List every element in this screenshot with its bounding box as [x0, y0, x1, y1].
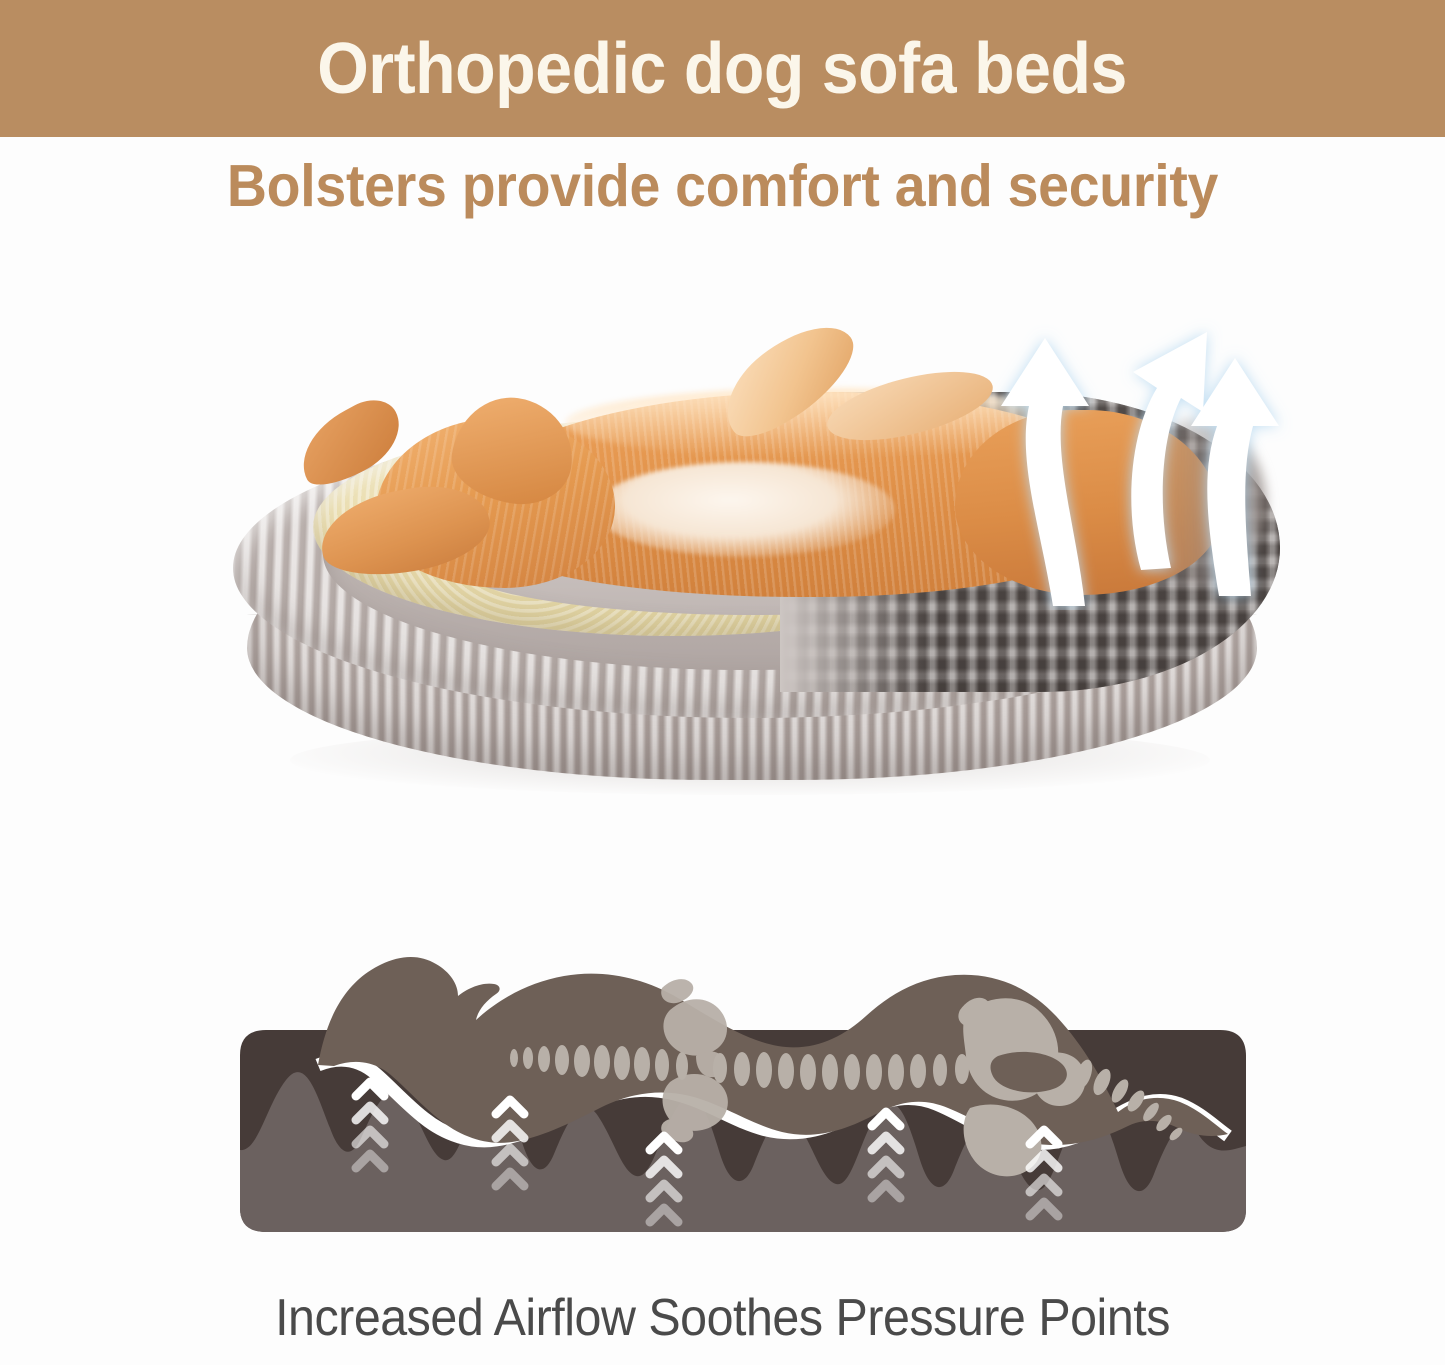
dog-chest-white-fur — [595, 462, 895, 557]
subtitle-text: Bolsters provide comfort and security — [43, 152, 1401, 220]
page-title: Orthopedic dog sofa beds — [318, 28, 1128, 110]
header-banner: Orthopedic dog sofa beds — [0, 0, 1445, 137]
airflow-arrow-3 — [1191, 358, 1279, 596]
cross-section-diagram — [200, 860, 1270, 1260]
product-photo — [195, 300, 1295, 860]
airflow-arrow-shapes — [1001, 332, 1279, 606]
airflow-arrow-1 — [1001, 338, 1089, 606]
airflow-arrow-2 — [1131, 332, 1207, 570]
airflow-arrows-group — [945, 310, 1295, 610]
infographic-page: Orthopedic dog sofa beds Bolsters provid… — [0, 0, 1445, 1365]
bottom-caption: Increased Airflow Soothes Pressure Point… — [51, 1288, 1395, 1348]
